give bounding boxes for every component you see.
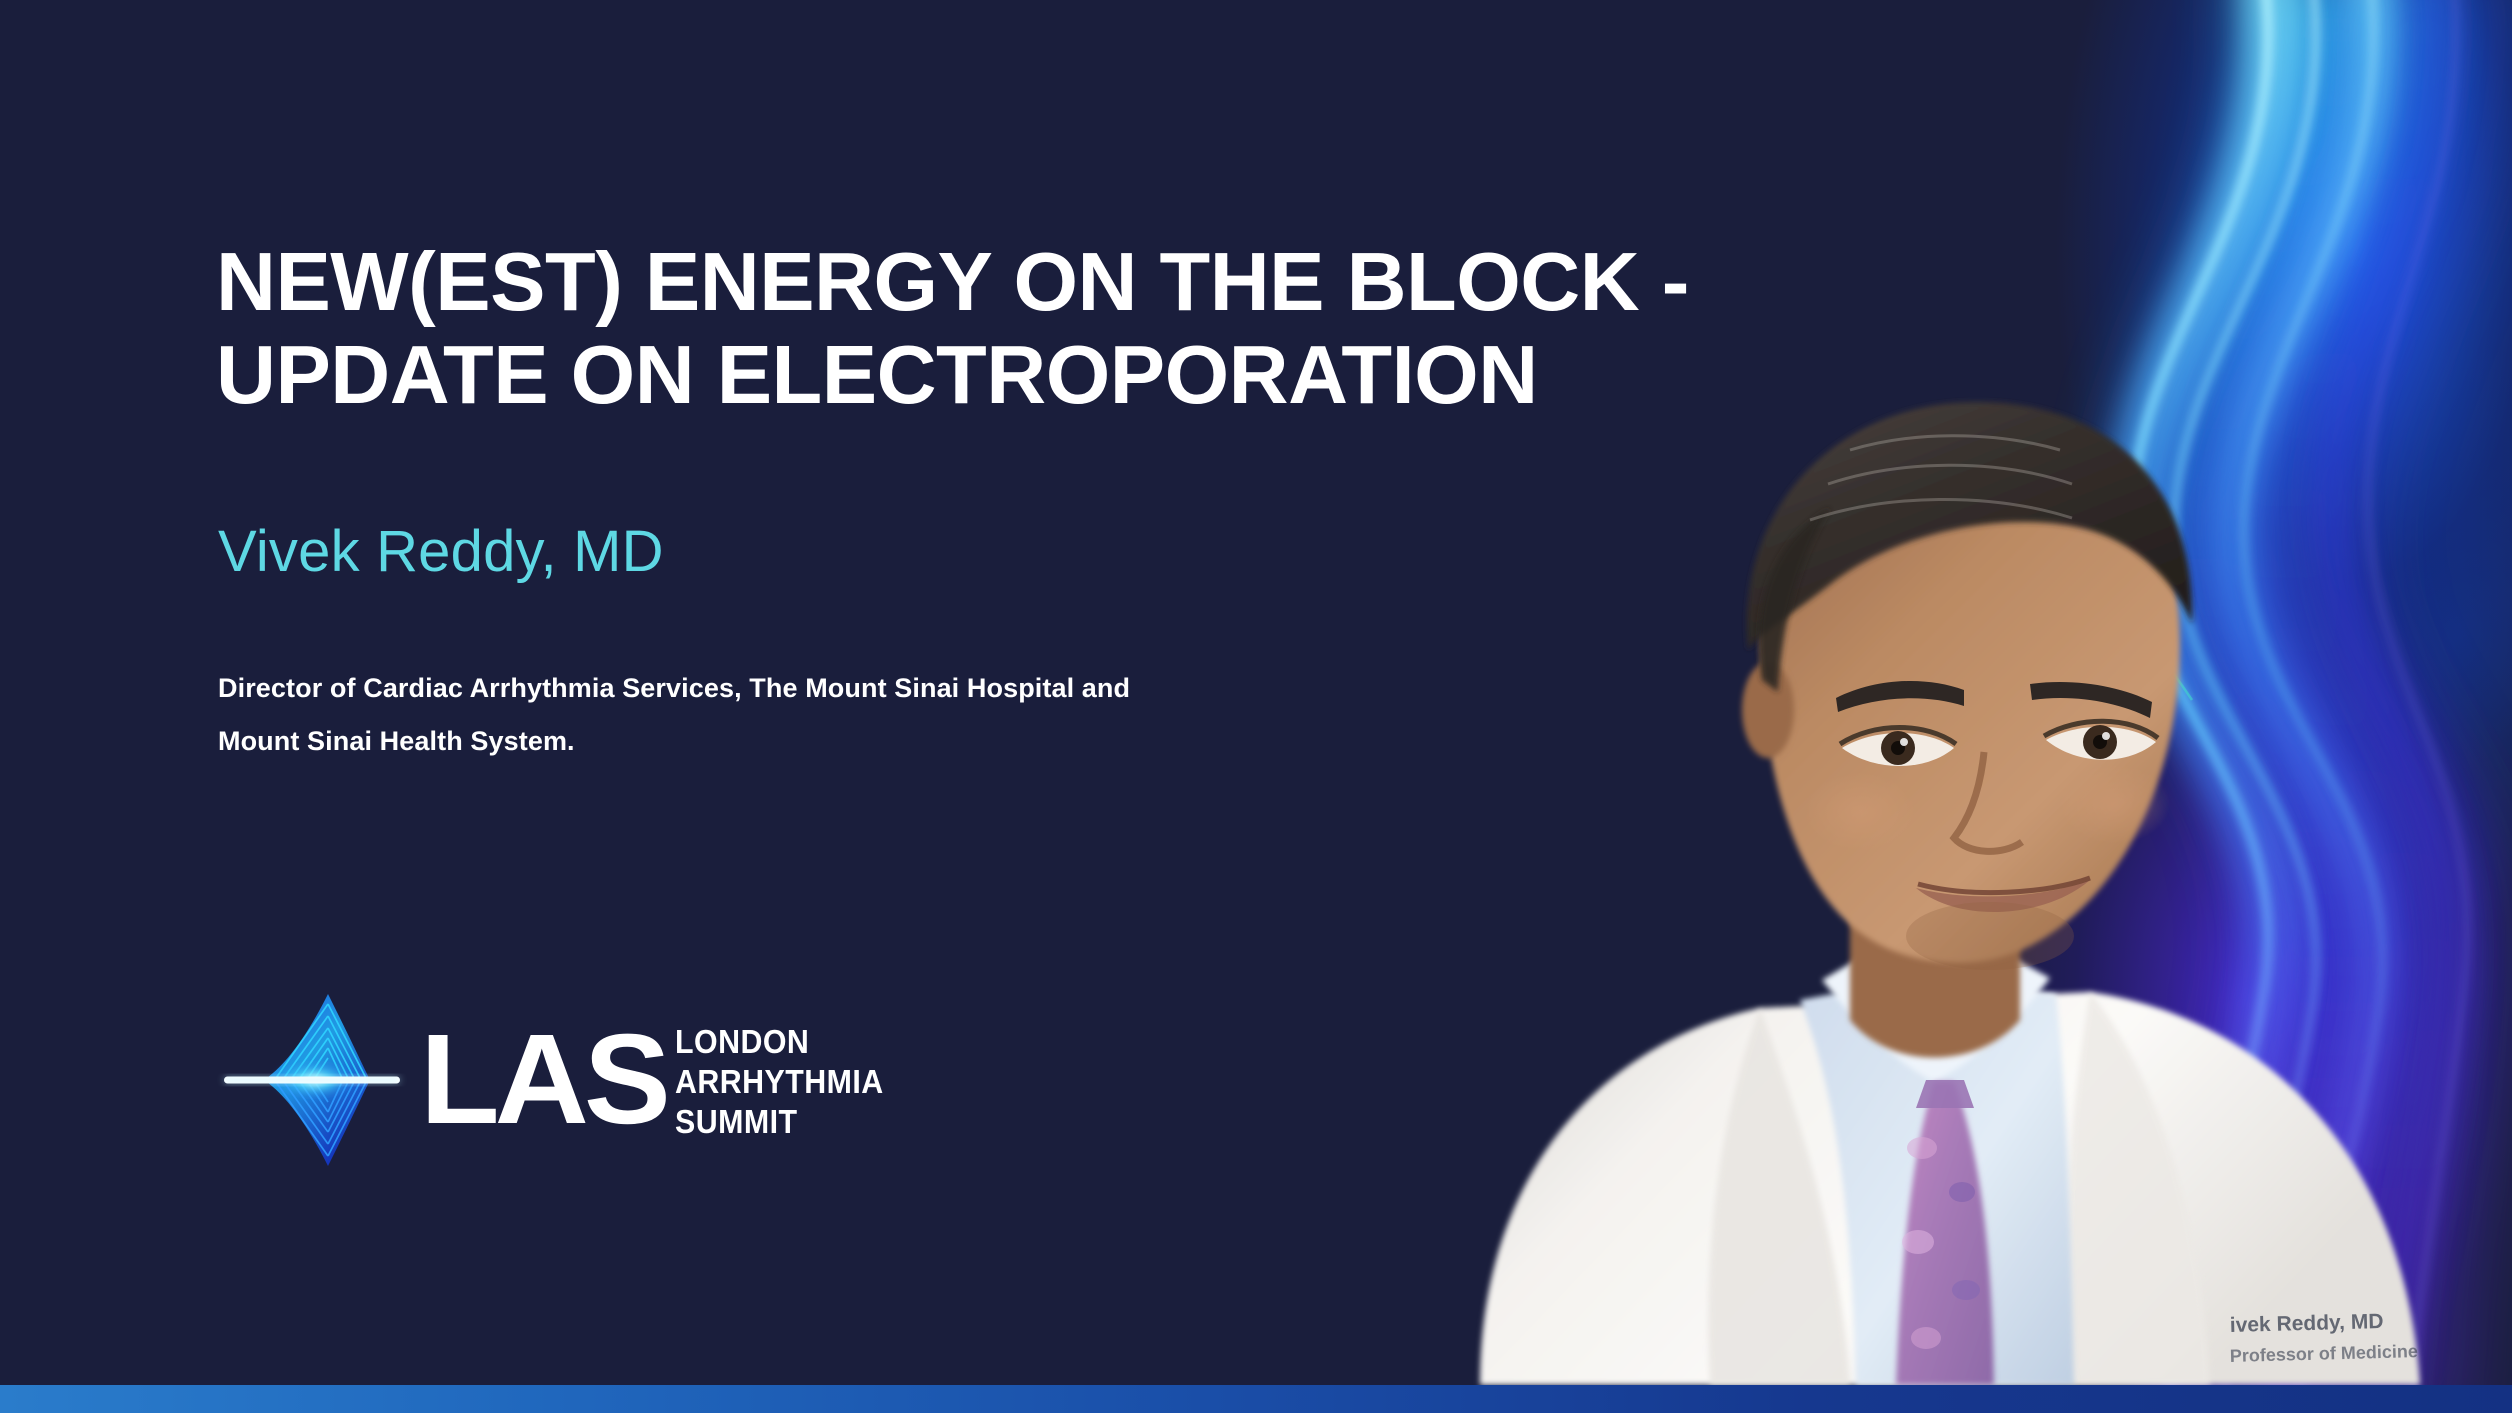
presentation-slide: ivek Reddy, MD Professor of Medicine NEW… <box>0 0 2512 1413</box>
necktie-knot <box>1916 1080 1974 1108</box>
bottom-accent-bar <box>0 1385 2512 1413</box>
speaker-bio: Director of Cardiac Arrhythmia Services,… <box>218 662 1168 768</box>
las-wordmark: LAS LONDON ARRHYTHMIA SUMMIT <box>420 1018 902 1143</box>
coat-embroidery-name: ivek Reddy, MD <box>2230 1310 2384 1337</box>
las-logo[interactable]: LAS LONDON ARRHYTHMIA SUMMIT <box>216 980 902 1180</box>
spindle-icon-svg <box>216 980 416 1180</box>
slide-title: NEW(EST) ENERGY ON THE BLOCK - UPDATE ON… <box>216 236 1856 422</box>
las-spindle-mark-icon <box>216 980 416 1180</box>
speaker-name: Vivek Reddy, MD <box>218 518 664 585</box>
las-subtitle-line-1: LONDON <box>675 1022 884 1062</box>
slide-content: NEW(EST) ENERGY ON THE BLOCK - UPDATE ON… <box>216 0 1916 1385</box>
las-subtitle-line-2: ARRHYTHMIA <box>675 1062 884 1102</box>
spindle-baseline-glow <box>224 1077 400 1084</box>
cheek-right <box>2058 764 2170 844</box>
las-subtitle-line-3: SUMMIT <box>675 1102 884 1142</box>
las-acronym: LAS <box>420 1026 666 1134</box>
chin-shadow <box>1906 902 2074 970</box>
las-subtitle: LONDON ARRHYTHMIA SUMMIT <box>675 1018 884 1143</box>
